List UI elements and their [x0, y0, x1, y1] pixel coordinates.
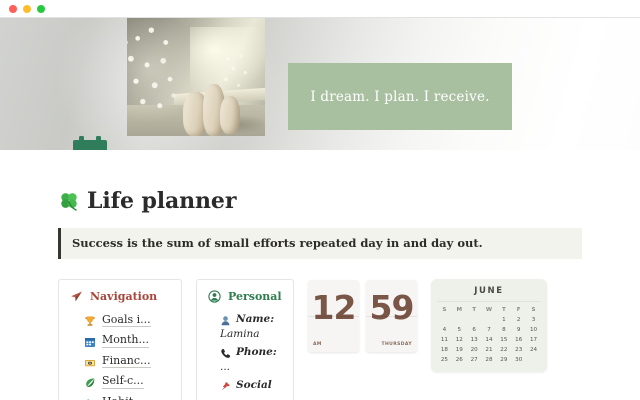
mini-calendar-day[interactable]: 24: [526, 346, 541, 354]
minimize-button[interactable]: [23, 5, 31, 13]
flip-clock: 12 AM 59 THURSDAY: [308, 280, 417, 352]
nav-item-habit[interactable]: Habit ...: [70, 393, 170, 400]
close-button[interactable]: [9, 5, 17, 13]
nav-item-selfcare[interactable]: Self-c...: [70, 372, 170, 393]
money-icon: [84, 356, 96, 368]
mini-calendar-day[interactable]: 8: [496, 326, 511, 334]
bust-icon: [220, 313, 231, 324]
mini-calendar-dow: S: [526, 306, 541, 314]
nav-item-label: Self-c...: [102, 375, 144, 389]
clock-hours: 12: [308, 291, 359, 324]
mini-calendar-month: JUNE: [437, 286, 541, 302]
personal-field-value: Lamina: [208, 327, 282, 343]
mini-calendar-day[interactable]: 22: [496, 346, 511, 354]
mini-calendar-day[interactable]: 9: [511, 326, 526, 334]
person-circle-icon: [208, 290, 221, 303]
mini-calendar-day[interactable]: 6: [467, 326, 482, 334]
mini-calendar-day[interactable]: 30: [511, 356, 526, 364]
banner-photo: [127, 18, 265, 136]
page-title-text: Life planner: [87, 188, 236, 214]
mini-calendar-day-empty: .: [452, 316, 467, 324]
pushpin-icon: [220, 379, 231, 390]
personal-card-title: Personal: [228, 290, 282, 303]
mini-calendar-day[interactable]: 2: [511, 316, 526, 324]
personal-field-label: Name:: [236, 313, 274, 325]
mini-calendar-day[interactable]: 18: [437, 346, 452, 354]
personal-field-label: Social: [236, 379, 272, 391]
app-window: I dream. I plan. I receive.: [0, 0, 640, 400]
titlebar: [0, 0, 640, 18]
nav-item-monthly[interactable]: Month...: [70, 331, 170, 352]
personal-field-name: Name:: [208, 310, 282, 327]
mini-calendar-day[interactable]: 14: [482, 336, 497, 344]
mini-calendar-day[interactable]: 1: [496, 316, 511, 324]
mini-calendar-day[interactable]: 7: [482, 326, 497, 334]
page-title: Life planner: [58, 188, 640, 214]
navigation-card: Navigation Goals i...: [58, 279, 182, 400]
content-columns: Navigation Goals i...: [58, 279, 640, 400]
banner-quote-text: I dream. I plan. I receive.: [310, 89, 489, 105]
mini-calendar-dow: S: [437, 306, 452, 314]
mini-calendar-day[interactable]: 29: [496, 356, 511, 364]
mini-calendar-day-empty: .: [437, 316, 452, 324]
mini-calendar-dow: M: [452, 306, 467, 314]
personal-field-social: Social: [208, 376, 282, 393]
clover-icon: [58, 190, 80, 212]
nav-item-label: Habit ...: [102, 396, 147, 400]
personal-field-label: Phone:: [236, 346, 277, 358]
mini-calendar-day[interactable]: 15: [496, 336, 511, 344]
mini-calendar-day[interactable]: 27: [467, 356, 482, 364]
page-body: Life planner Success is the sum of small…: [0, 188, 640, 400]
banner-quote-block: I dream. I plan. I receive.: [288, 63, 512, 130]
mini-calendar-day[interactable]: 19: [452, 346, 467, 354]
mini-calendar-day[interactable]: 25: [437, 356, 452, 364]
mini-calendar[interactable]: JUNE SMTWTFS....123456789101112131415161…: [431, 279, 547, 372]
personal-card-header: Personal: [208, 290, 282, 303]
navigation-card-header: Navigation: [70, 290, 170, 303]
calendar-icon[interactable]: [70, 133, 110, 150]
clock-hours-card: 12 AM: [308, 280, 359, 352]
mini-calendar-day[interactable]: 21: [482, 346, 497, 354]
mini-calendar-day-empty: .: [482, 316, 497, 324]
nav-item-label: Month...: [102, 334, 149, 348]
mini-calendar-day[interactable]: 13: [467, 336, 482, 344]
trophy-icon: [84, 314, 96, 326]
mini-calendar-dow: W: [482, 306, 497, 314]
clock-minutes-card: 59 THURSDAY: [366, 280, 417, 352]
page-banner: I dream. I plan. I receive.: [0, 18, 640, 150]
mini-calendar-day[interactable]: 16: [511, 336, 526, 344]
mini-calendar-day[interactable]: 3: [526, 316, 541, 324]
personal-card: Personal Name: Lamina: [196, 279, 294, 400]
mini-calendar-day[interactable]: 26: [452, 356, 467, 364]
mini-calendar-day-empty: .: [467, 316, 482, 324]
personal-field-value: ...: [208, 360, 282, 376]
mini-calendar-day[interactable]: 17: [526, 336, 541, 344]
mini-calendar-grid: SMTWTFS....12345678910111213141516171819…: [437, 306, 541, 364]
clock-minutes: 59: [366, 291, 417, 324]
callout-quote: Success is the sum of small efforts repe…: [58, 228, 582, 259]
callout-text: Success is the sum of small efforts repe…: [72, 236, 483, 250]
mini-calendar-day[interactable]: 11: [437, 336, 452, 344]
nav-item-label: Financ...: [102, 355, 151, 369]
mini-calendar-day[interactable]: 5: [452, 326, 467, 334]
paper-plane-icon: [70, 290, 83, 303]
nav-item-finance[interactable]: Financ...: [70, 351, 170, 372]
navigation-card-title: Navigation: [90, 290, 157, 303]
phone-icon: [220, 346, 231, 357]
maximize-button[interactable]: [37, 5, 45, 13]
personal-field-phone: Phone:: [208, 343, 282, 360]
mini-calendar-dow: T: [496, 306, 511, 314]
mini-calendar-dow: T: [467, 306, 482, 314]
clock-meridiem: AM: [313, 342, 322, 347]
nav-item-goals[interactable]: Goals i...: [70, 310, 170, 331]
clock-weekday: THURSDAY: [382, 342, 412, 347]
leaf-icon: [84, 376, 96, 388]
mini-calendar-day[interactable]: 4: [437, 326, 452, 334]
nav-item-label: Goals i...: [102, 314, 151, 328]
mini-calendar-day[interactable]: 20: [467, 346, 482, 354]
mini-calendar-dow: F: [511, 306, 526, 314]
mini-calendar-day[interactable]: 23: [511, 346, 526, 354]
calendar-icon: [84, 335, 96, 347]
mini-calendar-day[interactable]: 28: [482, 356, 497, 364]
mini-calendar-day[interactable]: 10: [526, 326, 541, 334]
mini-calendar-day[interactable]: 12: [452, 336, 467, 344]
